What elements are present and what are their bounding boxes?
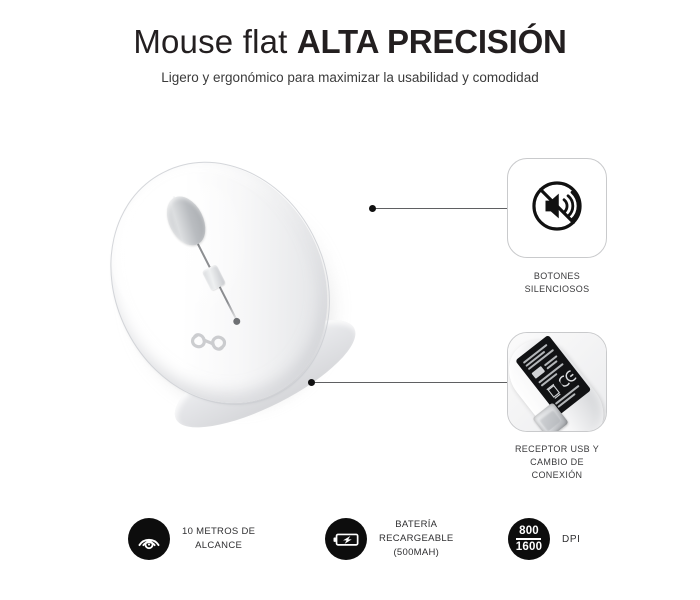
feature-range: 10 METROS DE ALCANCE [128,518,255,560]
label-line-1: 10 METROS DE [182,525,255,539]
header: Mouse flat ALTA PRECISIÓN Ligero y ergon… [0,22,700,87]
callout-caption-usb-receiver: RECEPTOR USB Y CAMBIO DE CONEXIÓN [482,443,632,482]
caption-line-3: CONEXIÓN [482,469,632,482]
feature-dpi: 800 1600 DPI [508,518,580,560]
dpi-badge-icon: 800 1600 [508,518,550,560]
muted-speaker-icon [526,175,588,242]
feature-battery-label: BATERÍA RECARGEABLE (500MAH) [379,518,454,560]
dpi-low-value: 800 [519,525,539,537]
mouse-rotation-group [0,59,461,512]
leader-dot-usb-receiver [308,379,315,386]
feature-dpi-label: DPI [562,534,580,545]
page-title-light: Mouse flat [133,23,297,60]
dpi-high-value: 1600 [516,541,542,553]
usb-receiver-photo [508,333,606,431]
leader-dot-silent-buttons [369,205,376,212]
rechargeable-battery-icon [325,518,367,560]
label-line-2: RECARGEABLE [379,532,454,546]
leader-line-silent-buttons [374,208,507,209]
feature-range-label: 10 METROS DE ALCANCE [182,525,255,553]
page-title: Mouse flat ALTA PRECISIÓN [0,22,700,62]
caption-line-2: SILENCIOSOS [482,283,632,296]
feature-battery: BATERÍA RECARGEABLE (500MAH) [325,518,454,560]
dpi-values: 800 1600 [516,525,542,554]
caption-line-2: CAMBIO DE [482,456,632,469]
callout-caption-silent-buttons: BOTONES SILENCIOSOS [482,270,632,296]
page-subtitle: Ligero y ergonómico para maximizar la us… [0,69,700,87]
caption-line-1: BOTONES [482,270,632,283]
product-image [55,120,405,450]
usb-photo-rotation-group [507,332,607,432]
label-line-1: BATERÍA [379,518,454,532]
caption-line-1: RECEPTOR USB Y [482,443,632,456]
leader-line-usb-receiver [314,382,507,383]
dpi-divider [516,538,541,540]
wireless-signal-icon [128,518,170,560]
label-line-2: ALCANCE [182,539,255,553]
wee-bin-icon [545,382,563,401]
page-title-bold: ALTA PRECISIÓN [297,23,567,60]
callout-silent-buttons [507,158,607,258]
label-line-3: (500MAH) [379,546,454,560]
callout-usb-receiver [507,332,607,432]
